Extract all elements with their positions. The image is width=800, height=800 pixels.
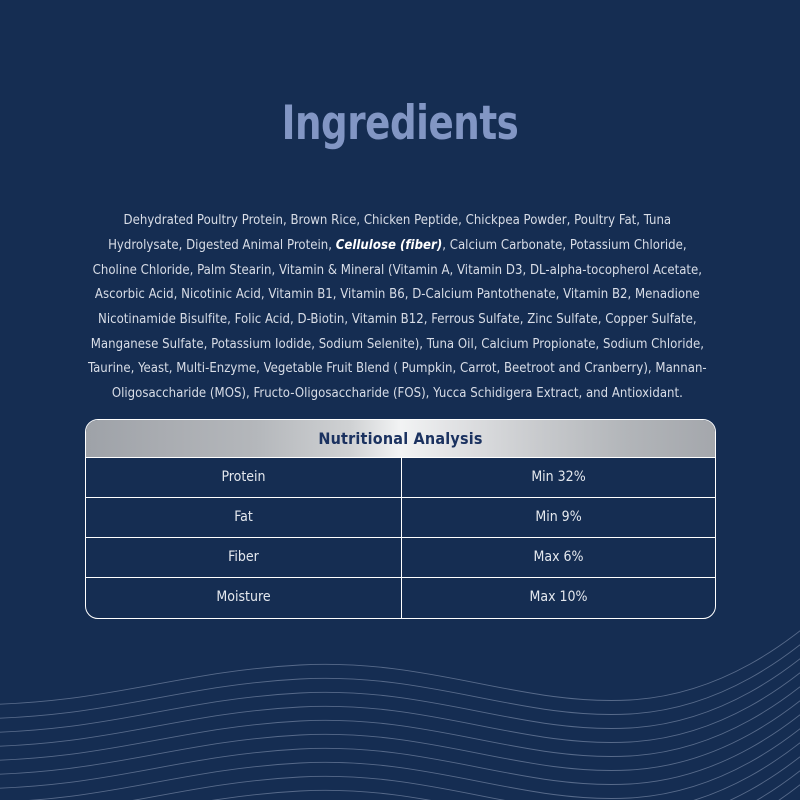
nutrient-label: Protein (86, 458, 402, 497)
table-row: Protein Min 32% (86, 458, 715, 498)
nutrient-value: Min 32% (402, 458, 715, 497)
table-header-title: Nutritional Analysis (86, 420, 715, 458)
nutrient-value: Max 6% (402, 538, 715, 577)
ingredients-paragraph: Dehydrated Poultry Protein, Brown Rice, … (86, 209, 709, 407)
nutrient-value: Min 9% (402, 498, 715, 537)
table-row: Fat Min 9% (86, 498, 715, 538)
ingredients-text-after: , Calcium Carbonate, Potassium Chloride,… (88, 238, 707, 401)
nutrient-label: Fat (86, 498, 402, 537)
ingredients-highlight-cellulose: Cellulose (fiber) (336, 238, 443, 253)
nutrient-value: Max 10% (402, 578, 715, 618)
ingredients-panel: Ingredients Dehydrated Poultry Protein, … (0, 0, 800, 800)
nutrient-label: Moisture (86, 578, 402, 618)
nutrient-label: Fiber (86, 538, 402, 577)
table-row: Fiber Max 6% (86, 538, 715, 578)
page-title: Ingredients (48, 96, 752, 152)
table-row: Moisture Max 10% (86, 578, 715, 618)
nutritional-analysis-table: Nutritional Analysis Protein Min 32% Fat… (85, 419, 716, 619)
